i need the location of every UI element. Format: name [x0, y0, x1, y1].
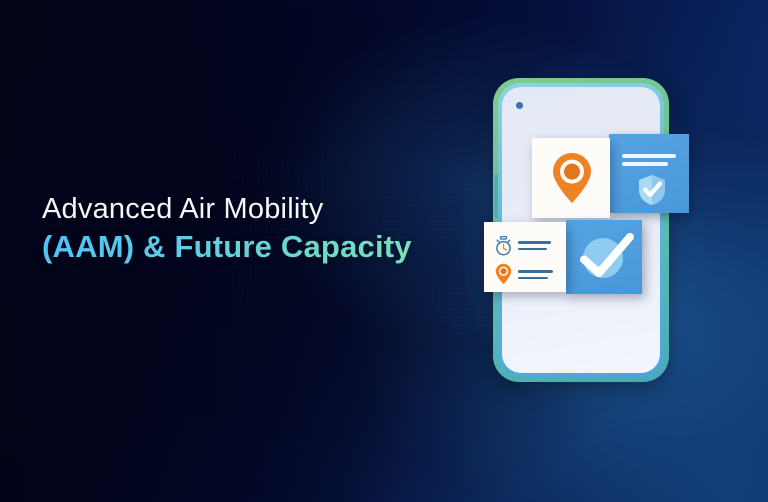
text-bar [622, 154, 676, 158]
banner-hero: Advanced Air Mobility (AAM) & Future Cap… [0, 0, 768, 502]
detail-row-location [484, 264, 566, 286]
headline-line-1: Advanced Air Mobility [42, 191, 462, 227]
stopwatch-icon [494, 236, 513, 256]
card-location [532, 138, 610, 218]
headline-block: Advanced Air Mobility (AAM) & Future Cap… [42, 191, 462, 267]
detail-row-time [484, 236, 566, 258]
card-approved [566, 220, 642, 294]
map-pin-icon [551, 152, 593, 204]
detail-text-lines [518, 270, 553, 283]
detail-text-lines [518, 241, 551, 254]
front-camera-icon [516, 102, 523, 109]
text-bar [518, 270, 553, 273]
text-bar [518, 248, 547, 251]
card-details [484, 222, 566, 292]
check-circle-icon [575, 230, 635, 284]
text-bar [518, 241, 551, 244]
card-verified [609, 134, 689, 213]
shield-check-icon [637, 174, 667, 206]
map-pin-icon [495, 263, 512, 285]
text-bar [622, 162, 668, 166]
phone-illustration [486, 72, 678, 392]
headline-line-2: (AAM) & Future Capacity [42, 227, 462, 267]
text-bar [518, 277, 548, 280]
